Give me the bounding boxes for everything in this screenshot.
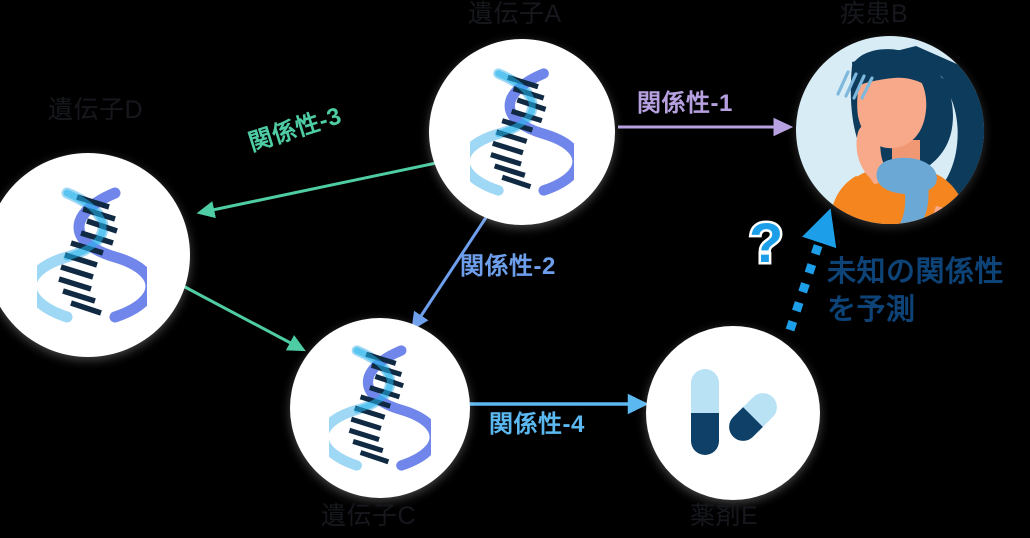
predicted-relation-line1: 未知の関係性 — [827, 253, 1004, 291]
node-label-drugE: 薬剤E — [690, 504, 758, 529]
node-drugE[interactable] — [646, 326, 820, 500]
dna-helix-icon — [470, 66, 574, 198]
node-label-geneC: 遺伝子C — [321, 504, 416, 529]
dna-helix-icon — [37, 185, 147, 325]
node-geneA[interactable] — [429, 39, 615, 225]
capsule-pills-icon — [681, 367, 785, 459]
edge-label-rel4: 関係性-4 — [489, 413, 585, 437]
edge-rel3 — [203, 162, 441, 212]
sick-person-icon — [796, 36, 984, 224]
node-label-diseaseB: 疾患B — [840, 2, 908, 27]
node-diseaseB[interactable] — [796, 36, 984, 224]
dna-helix-icon — [329, 343, 431, 473]
predicted-relation-annotation: 未知の関係性 を予測 — [827, 253, 1004, 330]
question-mark-icon: ? — [749, 215, 783, 271]
edge-label-rel1: 関係性-1 — [637, 92, 733, 116]
diagram-canvas: 遺伝子D 遺伝子A — [0, 0, 1030, 538]
edge-label-rel2: 関係性-2 — [460, 255, 556, 279]
node-geneC[interactable] — [290, 318, 470, 498]
node-label-geneD: 遺伝子D — [48, 98, 143, 123]
node-label-geneA: 遺伝子A — [468, 2, 562, 27]
predicted-relation-line2: を予測 — [827, 291, 1004, 329]
edge-predicted-relation — [790, 222, 826, 330]
edge-geneD-geneC — [168, 278, 300, 348]
